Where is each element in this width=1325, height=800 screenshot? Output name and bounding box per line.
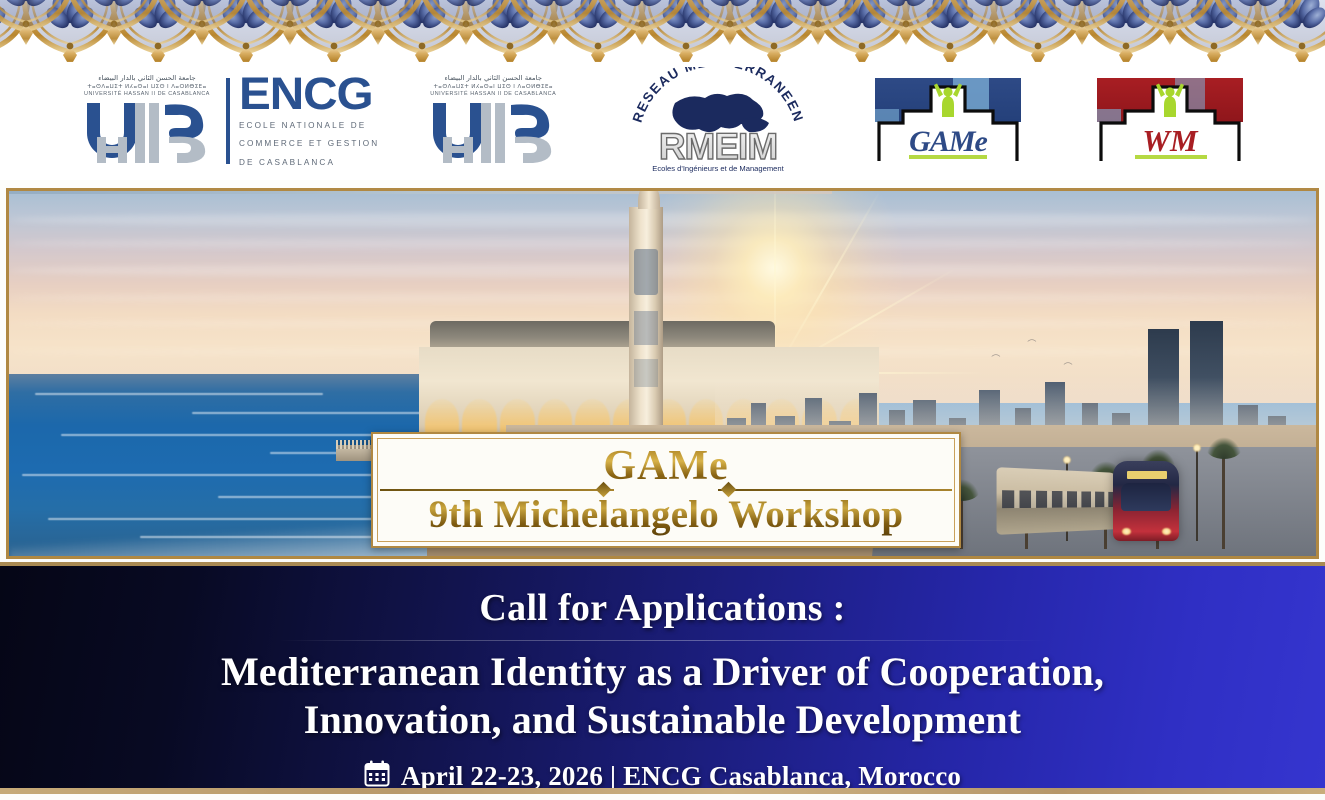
rmeim-acronym: RMEIM [659, 126, 777, 167]
uh2c-solo-arabic-text: جامعة الحسن الثاني بالدار البيضاء [445, 74, 543, 83]
game-acronym: GAMe [909, 125, 987, 158]
uh2c-solo-amazigh-text: ⵜⴰⵙⴷⴰⵡⵉⵜ ⵍⵃⴰⵙⴰⵏ ⵡⵉⵙ ⵏ ⴷⴰⵔⵍⴱⵉⴹⴰ [434, 84, 553, 90]
theme-line-1: Mediterranean Identity as a Driver of Co… [221, 648, 1104, 696]
casablanca-tram [1017, 457, 1179, 541]
game-logo: GAMe [869, 76, 1027, 166]
rmeim-logo: RESEAU MEDITERRANEEN RMEIM Ecoles d'Ingé… [623, 67, 813, 175]
theme-title: Mediterranean Identity as a Driver of Co… [221, 648, 1104, 744]
encg-subtitle-line-1: ECOLE NATIONALE DE [239, 119, 379, 133]
uh2c-solo-french-text: UNIVERSITÉ HASSAN II DE CASABLANCA [430, 91, 556, 97]
title-rule-left [380, 489, 614, 491]
uh2c-amazigh-text: ⵜⴰⵙⴷⴰⵡⵉⵜ ⵍⵃⴰⵙⴰⵏ ⵡⵉⵙ ⵏ ⴷⴰⵔⵍⴱⵉⴹⴰ [87, 84, 206, 90]
game-brand: GAMe [577, 445, 754, 487]
event-dates-and-venue: April 22-23, 2026 | ENCG Casablanca, Mor… [401, 761, 961, 792]
moroccan-zellige-border [0, 0, 1325, 62]
rmeim-tagline: Ecoles d'Ingénieurs et de Management [653, 164, 785, 173]
minaret [629, 207, 663, 445]
encg-subtitle-line-3: DE CASABLANCA [239, 156, 379, 170]
call-for-applications-banner: Call for Applications : Mediterranean Id… [0, 562, 1325, 794]
uh2c-monogram-icon [77, 99, 217, 168]
bottom-gold-strip [0, 788, 1325, 794]
banner-divider [278, 640, 1048, 641]
wm-logo: WM [1091, 76, 1249, 166]
wm-acronym: WM [1143, 123, 1200, 158]
title-rule-right [718, 489, 952, 491]
universite-hassan-ii-logo: جامعة الحسن الثاني بالدار البيضاء ⵜⴰⵙⴷⴰⵡ… [413, 66, 573, 176]
encg-divider [226, 78, 230, 164]
casablanca-hero-image: ︵ ︵ ︵ [6, 188, 1319, 559]
uh2c-mark: جامعة الحسن الثاني بالدار البيضاء ⵜⴰⵙⴷⴰⵡ… [72, 74, 222, 168]
call-for-applications-label: Call for Applications : [479, 586, 845, 630]
workshop-subtitle: 9th Michelangelo Workshop [429, 495, 904, 536]
theme-line-2: Innovation, and Sustainable Development [221, 696, 1104, 744]
encg-subtitle-line-2: COMMERCE ET GESTION [239, 137, 379, 151]
sponsor-logo-strip: جامعة الحسن الثاني بالدار البيضاء ⵜⴰⵙⴷⴰⵡ… [0, 62, 1325, 180]
encg-acronym: ENCG [239, 72, 388, 115]
game-title-card: GAMe 9th Michelangelo Workshop [371, 432, 961, 548]
conference-poster: جامعة الحسن الثاني بالدار البيضاء ⵜⴰⵙⴷⴰⵡ… [0, 0, 1325, 800]
uh2c-french-text: UNIVERSITÉ HASSAN II DE CASABLANCA [84, 91, 210, 97]
encg-casablanca-logo: جامعة الحسن الثاني بالدار البيضاء ⵜⴰⵙⴷⴰⵡ… [72, 66, 379, 176]
uh2c-solo-monogram-icon [423, 99, 563, 168]
uh2c-arabic-text: جامعة الحسن الثاني بالدار البيضاء [98, 74, 196, 83]
